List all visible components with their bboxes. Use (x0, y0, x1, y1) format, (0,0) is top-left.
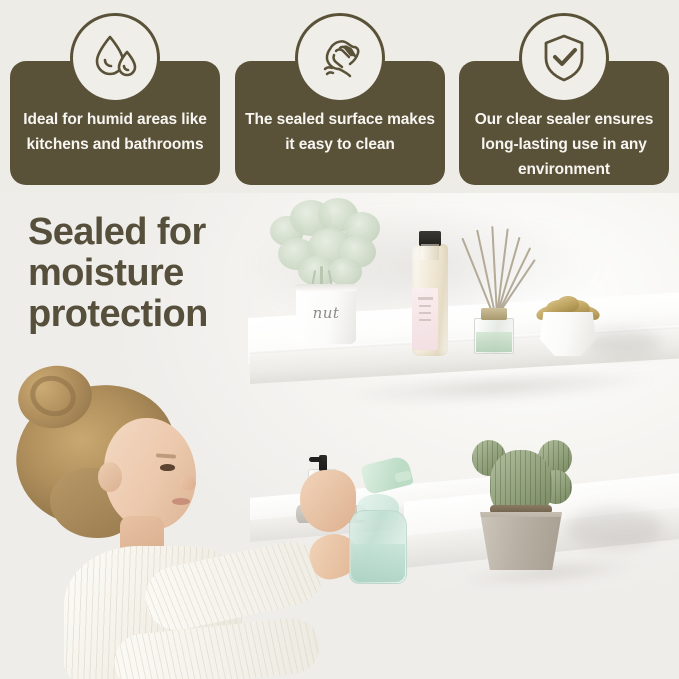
feature-card-text: The sealed surface makes it easy to clea… (245, 107, 435, 157)
lips (172, 498, 190, 505)
diffuser-collar (481, 308, 507, 320)
feature-card-humid-areas[interactable]: Ideal for humid areas like kitchens and … (10, 61, 220, 185)
shield-check-icon (519, 13, 609, 103)
hand-wiping-cloth-icon (295, 13, 385, 103)
white-planter-pot: nut (296, 284, 356, 344)
cactus-shadow (566, 508, 662, 548)
reed-diffuser (462, 244, 526, 356)
glass-bottle (412, 244, 448, 356)
terracotta-pot (480, 512, 562, 570)
feature-card-text: Our clear sealer ensures long-lasting us… (469, 107, 659, 182)
succulent-shadow (586, 330, 660, 356)
water-drop-icon (70, 13, 160, 103)
feature-card-text: Ideal for humid areas like kitchens and … (20, 107, 210, 157)
feature-card-easy-to-clean[interactable]: The sealed surface makes it easy to clea… (235, 61, 445, 185)
planter-script-text: nut (302, 304, 350, 322)
infographic-canvas: nut (0, 0, 679, 679)
eye (160, 464, 175, 471)
feature-card-row: Ideal for humid areas like kitchens and … (0, 0, 679, 200)
ear (98, 462, 122, 492)
nose (180, 476, 196, 490)
supporting-hand (300, 470, 356, 532)
diffuser-liquid (476, 332, 512, 352)
bottle-neck (421, 244, 439, 260)
feature-card-long-lasting[interactable]: Our clear sealer ensures long-lasting us… (459, 61, 669, 185)
spray-liquid (351, 544, 405, 582)
bottle-label (412, 288, 438, 350)
child-figure (0, 358, 346, 679)
page-title: Sealed for moisture protection (28, 212, 260, 335)
greenery-foliage (264, 198, 390, 296)
planter-rim (295, 284, 357, 291)
